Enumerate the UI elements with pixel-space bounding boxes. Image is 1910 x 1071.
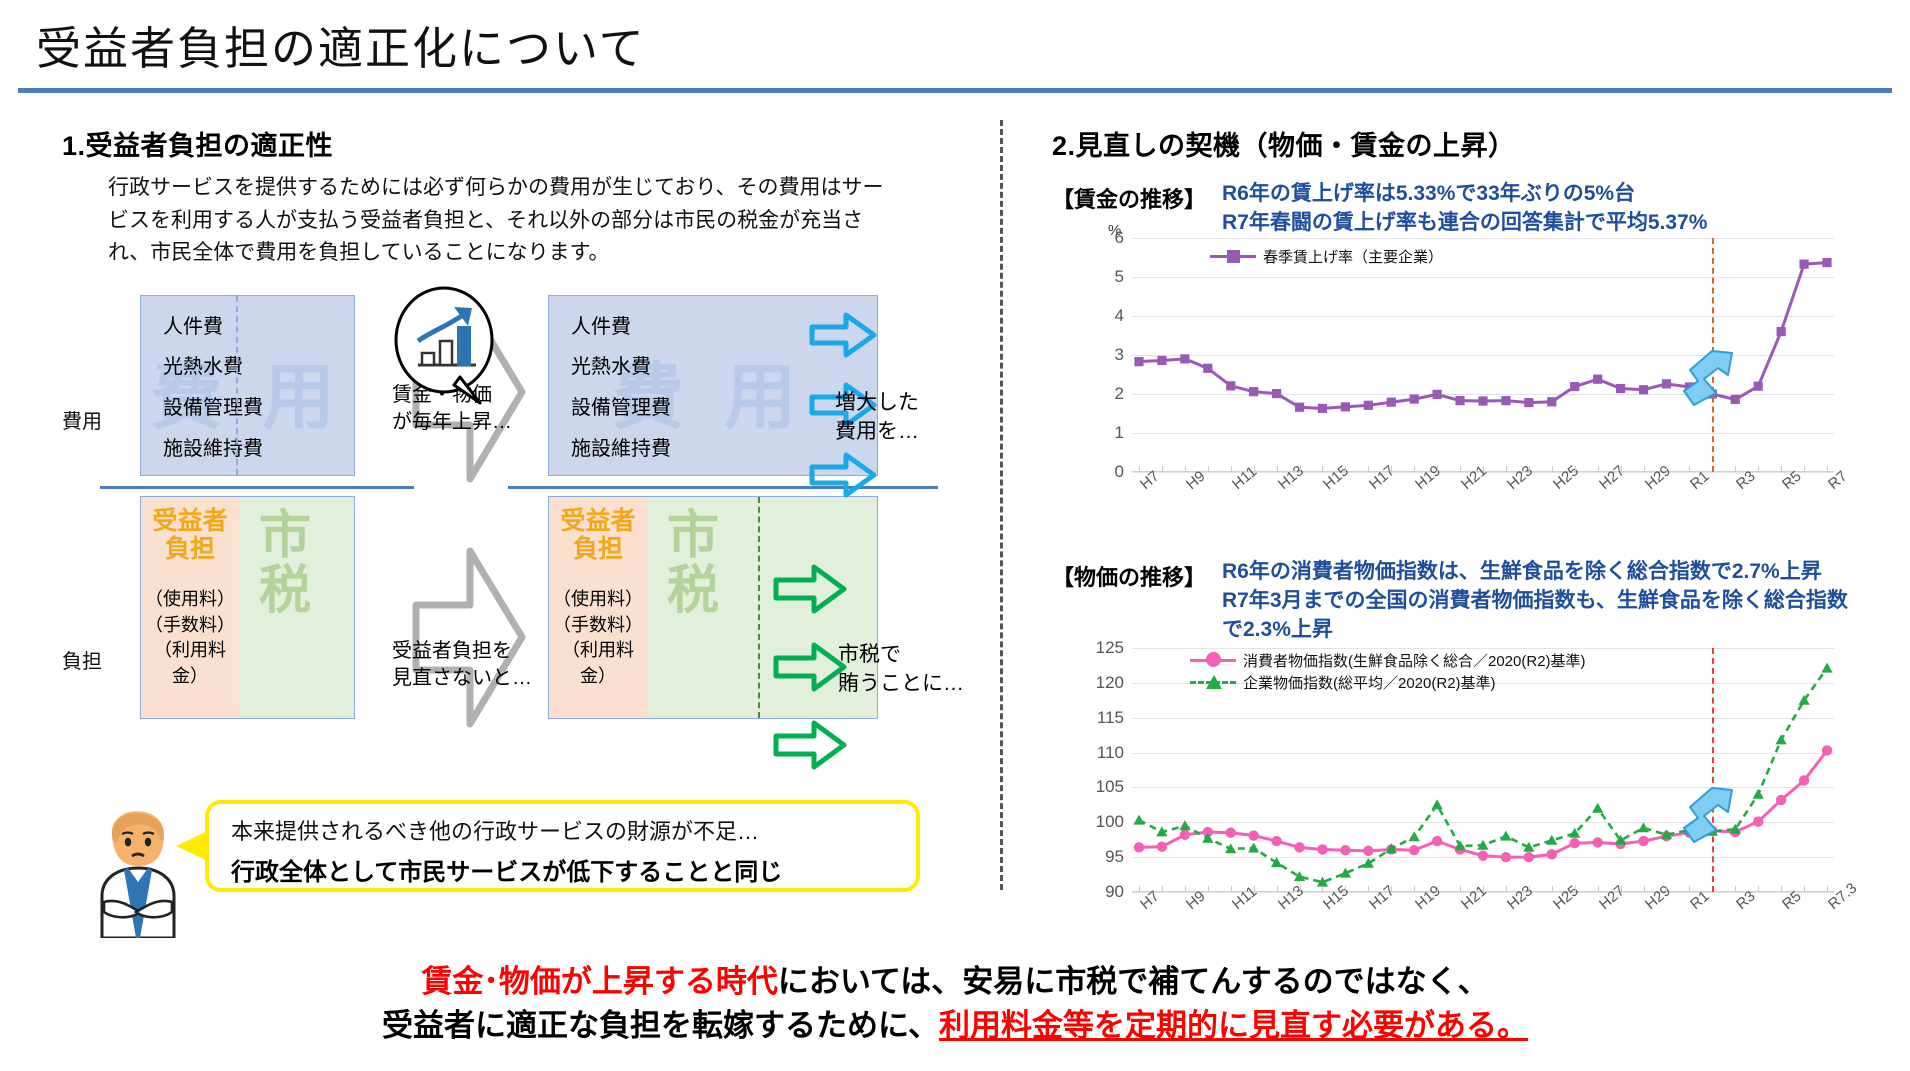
legend-label: 消費者物価指数(生鮮食品除く総合／2020(R2)基準) [1243, 650, 1586, 671]
wage-chart-data-point [1364, 401, 1373, 410]
tax-burden-arrow-3-icon [772, 718, 848, 777]
tax-ghost-after-line1: 市 [667, 507, 719, 565]
price-chart-data-point [1776, 734, 1787, 744]
price-note-line1: R6年の消費者物価指数は、生鮮食品を除く総合指数で2.7%上昇 [1222, 560, 1822, 583]
price-note-line3: で2.3%上昇 [1222, 618, 1333, 641]
conclusion-text: 賃金･物価が上昇する時代においては、安易に市税で補てんするのではなく、 受益者に… [0, 960, 1910, 1048]
cost-item-facility: 施設維持費 [163, 432, 263, 461]
price-chart-series-line [1139, 668, 1827, 882]
price-chart-data-point [1776, 795, 1786, 805]
cost-item-utilities: 光熱水費 [163, 350, 243, 379]
price-chart-legend-cpi: 消費者物価指数(生鮮食品除く総合／2020(R2)基準) [1190, 650, 1586, 671]
legend-square-marker [1227, 250, 1240, 263]
price-chart-data-point [1570, 838, 1580, 848]
price-chart-data-point [1157, 841, 1167, 851]
legend-label: 春季賃上げ率（主要企業） [1263, 246, 1443, 267]
wage-chart-data-point [1318, 404, 1327, 413]
price-chart-data-point [1546, 835, 1557, 845]
section-1-heading: 1.受益者負担の適正性 [62, 124, 333, 163]
cost-box-before: 費 用 人件費 光熱水費 設備管理費 施設維持費 [140, 295, 355, 476]
price-chart-data-point [1500, 831, 1511, 841]
fee-title-after-line2: 負担 [573, 535, 623, 563]
wage-chart-data-point [1570, 382, 1579, 391]
wage-chart-data-point [1387, 398, 1396, 407]
price-chart-up-right-arrow-icon [1682, 780, 1742, 846]
wage-chart-data-point [1662, 379, 1671, 388]
price-chart-data-point [1271, 836, 1281, 846]
price-chart-ytick-label: 110 [1097, 743, 1124, 763]
fee-sub-usage: （使用料） [145, 589, 235, 609]
wage-chart-ytick-label: 2 [1115, 384, 1124, 404]
fee-segment-after: 受益者 負担 （使用料） （手数料） （利用料金） [549, 497, 647, 718]
wage-chart-data-point [1593, 375, 1602, 384]
price-chart-data-point [1478, 851, 1488, 861]
price-chart-data-point [1363, 846, 1373, 856]
wage-chart-data-point [1272, 389, 1281, 398]
tax-ghost-line2: 税 [259, 562, 311, 620]
wage-chart-data-point [1547, 397, 1556, 406]
price-chart-data-point [1432, 799, 1443, 809]
tax-ghost-before: 市 税 [255, 509, 315, 618]
bar-chart-up-icon [388, 285, 504, 416]
wage-chart-ytick-label: 5 [1115, 267, 1124, 287]
price-chart-data-point [1134, 842, 1144, 852]
wage-chart-up-right-arrow-icon [1682, 343, 1742, 409]
price-chart: 9095100105110115120125H7H9H11H13H15H17H1… [1060, 648, 1850, 938]
price-chart-ytick-label: 115 [1097, 708, 1124, 728]
burden-box-before: 受益者 負担 （使用料） （手数料） （利用料金） 市 税 [140, 496, 355, 719]
worried-person-icon [82, 790, 194, 943]
callout-line-1: 本来提供されるべき他の行政サービスの財源が不足… [231, 814, 759, 846]
conclusion-line-2a: 受益者に適正な負担を転嫁するために、 [382, 1008, 939, 1043]
price-chart-data-point [1547, 849, 1557, 859]
price-chart-note: R6年の消費者物価指数は、生鮮食品を除く総合指数で2.7%上昇 R7年3月までの… [1222, 558, 1848, 645]
fee-sub-usage-after: （使用料） [553, 589, 643, 609]
fee-subitems-before: （使用料） （手数料） （利用料金） [141, 587, 239, 689]
wage-chart-data-point [1249, 387, 1258, 396]
fee-sub-handling: （手数料） [145, 615, 235, 635]
price-chart-data-point [1409, 831, 1420, 841]
price-chart-data-point [1271, 857, 1282, 867]
cost-box-increase-divider [236, 296, 238, 475]
price-note-line2: R7年3月までの全国の消費者物価指数も、生鮮食品を除く総合指数 [1222, 589, 1848, 612]
fee-sub-handling-after: （手数料） [553, 615, 643, 635]
legend-line-swatch [1190, 659, 1236, 662]
wage-chart-data-point [1478, 396, 1487, 405]
wage-chart-data-point [1341, 402, 1350, 411]
wage-chart-data-point [1822, 258, 1831, 267]
cost-item-facility-after: 施設維持費 [571, 432, 671, 461]
cost-increase-arrow-3-icon [808, 450, 878, 505]
cost-item-equipment: 設備管理費 [163, 391, 263, 420]
price-chart-data-point [1753, 816, 1763, 826]
price-chart-data-point [1455, 840, 1466, 850]
transition-arrow-bottom-label: 受益者負担を 見直さないと… [392, 638, 532, 692]
tax-ghost-after-line2: 税 [667, 562, 719, 620]
wage-chart-data-point [1639, 385, 1648, 394]
fee-sub-utilization-after: （利用料金） [562, 640, 634, 686]
price-chart-data-point [1638, 836, 1648, 846]
wage-chart-data-point [1524, 398, 1533, 407]
slide-root: 受益者負担の適正化について 1.受益者負担の適正性 2.見直しの契機（物価・賃金… [0, 0, 1910, 1071]
title-divider-rule [18, 88, 1892, 93]
fee-title-line1: 受益者 [152, 507, 227, 535]
arrow-bottom-line1: 受益者負担を [392, 640, 512, 662]
conclusion-highlight-1: 賃金･物価が上昇する時代 [421, 964, 778, 999]
wage-chart-data-point [1157, 356, 1166, 365]
wage-chart-plot-area: 0123456H7H9H11H13H15H17H19H21H23H25H27H2… [1132, 238, 1834, 472]
wage-chart-data-point [1226, 381, 1235, 390]
price-chart-data-point [1317, 844, 1327, 854]
wage-chart-data-point [1777, 327, 1786, 336]
price-chart-ytick-label: 90 [1105, 882, 1124, 902]
wage-chart-data-point [1754, 382, 1763, 391]
wage-chart-data-point [1295, 403, 1304, 412]
callout-line-2: 行政全体として市民サービスが低下することと同じ [231, 852, 782, 887]
price-chart-data-point [1294, 871, 1305, 881]
wage-chart-data-point [1433, 390, 1442, 399]
cost-item-utilities-after: 光熱水費 [571, 350, 651, 379]
wage-chart-data-point [1134, 357, 1143, 366]
section-2-heading: 2.見直しの契機（物価・賃金の上昇） [1052, 124, 1516, 163]
tax-burden-arrow-1-icon [772, 562, 848, 621]
price-chart-data-point [1821, 663, 1832, 673]
wage-chart-heading: 【賃金の推移】 [1052, 182, 1206, 214]
price-chart-ytick-label: 120 [1096, 673, 1124, 693]
wage-chart-ytick-label: 3 [1115, 345, 1124, 365]
price-chart-data-point [1180, 830, 1190, 840]
price-chart-ytick-label: 100 [1096, 812, 1124, 832]
page-title: 受益者負担の適正化について [36, 12, 646, 77]
cost-item-personnel-after: 人件費 [571, 310, 631, 339]
legend-marker [1206, 652, 1221, 667]
callout-box: 本来提供されるべき他の行政サービスの財源が不足… 行政全体として市民サービスが低… [205, 800, 920, 892]
wage-chart-note: R6年の賃上げ率は5.33%で33年ぶりの5%台 R7年春闘の賃上げ率も連合の回… [1222, 180, 1707, 238]
wage-chart-ytick-label: 4 [1115, 306, 1124, 326]
price-chart-data-point [1409, 845, 1419, 855]
tax-segment-before: 市 税 [239, 497, 354, 718]
cost-item-equipment-after: 設備管理費 [571, 391, 671, 420]
wage-chart: 0123456H7H9H11H13H15H17H19H21H23H25H27H2… [1060, 238, 1850, 518]
wage-chart-legend: 春季賃上げ率（主要企業） [1210, 246, 1443, 267]
note-blue-line2: 費用を… [835, 420, 919, 443]
diagram-row-label-cost: 費用 [62, 405, 102, 434]
cost-item-personnel: 人件費 [163, 310, 223, 339]
price-chart-ytick-label: 125 [1096, 638, 1124, 658]
price-chart-data-point [1524, 852, 1534, 862]
price-chart-data-point [1248, 843, 1259, 853]
legend-marker [1206, 675, 1222, 689]
fee-title-after: 受益者 負担 [549, 507, 647, 563]
wage-chart-data-point [1501, 396, 1510, 405]
wage-chart-ytick-label: 6 [1115, 228, 1124, 248]
tax-ghost-after: 市 税 [663, 509, 723, 618]
legend-line-swatch [1210, 255, 1256, 258]
arrow-bottom-line2: 見直さないと… [392, 667, 532, 689]
fee-title-after-line1: 受益者 [560, 507, 635, 535]
price-chart-data-point [1294, 842, 1304, 852]
wage-chart-data-point [1799, 260, 1808, 269]
price-chart-data-point [1822, 745, 1832, 755]
tax-ghost-line1: 市 [259, 507, 311, 565]
price-chart-data-point [1501, 852, 1511, 862]
price-chart-data-point [1179, 820, 1190, 830]
price-chart-data-point [1592, 803, 1603, 813]
fee-sub-utilization: （利用料金） [154, 640, 226, 686]
section-1-paragraph: 行政サービスを提供するためには必ず何らかの費用が生じており、その費用はサービスを… [108, 172, 898, 270]
wage-chart-data-point [1203, 364, 1212, 373]
note-green-line1: 市税で [838, 643, 901, 666]
wage-chart-ytick-label: 1 [1115, 423, 1124, 443]
fee-subitems-after: （使用料） （手数料） （利用料金） [549, 587, 647, 689]
wage-chart-ytick-label: 0 [1115, 462, 1124, 482]
vertical-dashed-divider [1000, 120, 1003, 890]
fee-segment-before: 受益者 負担 （使用料） （手数料） （利用料金） [141, 497, 239, 718]
price-chart-annotation-vline [1712, 648, 1714, 892]
tax-burden-note: 市税で 賄うことに… [838, 640, 964, 699]
cost-increase-arrow-1-icon [808, 310, 878, 365]
price-chart-ytick-label: 105 [1096, 777, 1124, 797]
tax-increase-divider [758, 497, 760, 718]
note-green-line2: 賄うことに… [838, 672, 964, 695]
wage-chart-data-point [1616, 384, 1625, 393]
wage-chart-data-point [1180, 354, 1189, 363]
price-chart-data-point [1226, 828, 1236, 838]
conclusion-highlight-2: 利用料金等を定期的に見直す必要がある。 [939, 1008, 1528, 1043]
note-blue-line1: 増大した [835, 391, 919, 414]
legend-label: 企業物価指数(総平均／2020(R2)基準) [1243, 672, 1496, 693]
price-chart-data-point [1638, 822, 1649, 832]
price-chart-data-point [1133, 815, 1144, 825]
price-chart-ytick-label: 95 [1105, 847, 1124, 867]
price-chart-data-point [1248, 830, 1258, 840]
price-chart-data-point [1363, 858, 1374, 868]
price-chart-data-point [1340, 845, 1350, 855]
legend-line-swatch [1190, 681, 1236, 684]
conclusion-line-1b: においては、安易に市税で補てんするのではなく、 [778, 964, 1489, 999]
price-chart-data-point [1592, 837, 1602, 847]
diagram-row-label-burden: 負担 [62, 645, 102, 674]
price-chart-data-point [1799, 775, 1809, 785]
cost-increase-note: 増大した 費用を… [835, 388, 919, 447]
wage-chart-data-point [1410, 394, 1419, 403]
fee-title-line2: 負担 [165, 535, 215, 563]
fee-title-before: 受益者 負担 [141, 507, 239, 563]
wage-note-line2: R7年春闘の賃上げ率も連合の回答集計で平均5.37% [1222, 211, 1707, 234]
price-chart-heading: 【物価の推移】 [1052, 560, 1206, 592]
price-chart-data-point [1432, 836, 1442, 846]
tax-burden-arrow-2-icon [772, 640, 848, 699]
cost-burden-rule-left [100, 486, 414, 489]
wage-chart-data-point [1455, 396, 1464, 405]
price-chart-legend-cgpi: 企業物価指数(総平均／2020(R2)基準) [1190, 672, 1496, 693]
wage-note-line1: R6年の賃上げ率は5.33%で33年ぶりの5%台 [1222, 182, 1635, 205]
price-chart-data-point [1753, 789, 1764, 799]
